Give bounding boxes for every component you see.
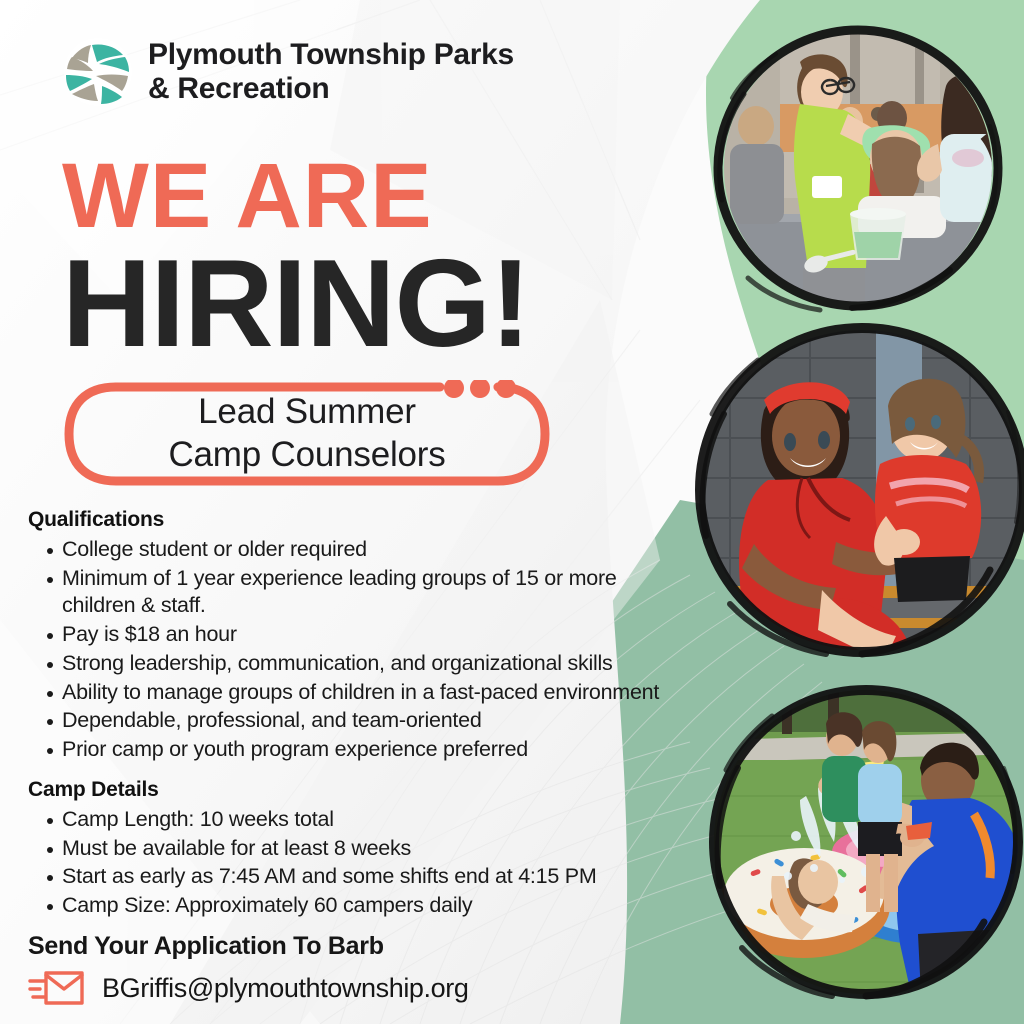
- qualifications-list: College student or older required Minimu…: [28, 536, 668, 764]
- role-pill: Lead Summer Camp Counselors: [62, 380, 552, 488]
- list-item: College student or older required: [28, 536, 668, 564]
- list-item: Start as early as 7:45 AM and some shift…: [28, 863, 668, 891]
- envelope-send-icon: [28, 967, 88, 1009]
- list-item: Camp Length: 10 weeks total: [28, 806, 668, 834]
- organization-name: Plymouth Township Parks & Recreation: [148, 38, 514, 105]
- list-item: Must be available for at least 8 weeks: [28, 835, 668, 863]
- call-to-action: Send Your Application To Barb: [28, 932, 648, 961]
- photo-water-play: [706, 676, 1024, 1016]
- list-item: Pay is $18 an hour: [28, 621, 668, 649]
- qualifications-section: Qualifications College student or older …: [28, 508, 668, 765]
- role-title: Lead Summer Camp Counselors: [62, 380, 552, 488]
- hiring-flyer: Plymouth Township Parks & Recreation WE …: [0, 0, 1024, 1024]
- contact-email[interactable]: BGriffis@plymouthtownship.org: [102, 973, 468, 1004]
- camp-details-title: Camp Details: [28, 778, 668, 802]
- list-item: Minimum of 1 year experience leading gro…: [28, 565, 668, 620]
- qualifications-title: Qualifications: [28, 508, 668, 532]
- camp-details-section: Camp Details Camp Length: 10 weeks total…: [28, 778, 668, 921]
- list-item: Prior camp or youth program experience p…: [28, 736, 668, 764]
- headline-hiring: HIRING!: [62, 242, 530, 366]
- brand-logo: Plymouth Township Parks & Recreation: [62, 36, 514, 108]
- camp-details-list: Camp Length: 10 weeks total Must be avai…: [28, 806, 668, 920]
- list-item: Dependable, professional, and team-orien…: [28, 707, 668, 735]
- list-item: Strong leadership, communication, and or…: [28, 650, 668, 678]
- photo-slime-activity: [700, 18, 1020, 318]
- role-title-line1: Lead Summer: [198, 391, 416, 434]
- role-title-line2: Camp Counselors: [168, 434, 445, 477]
- photo-counselor-and-camper: [690, 318, 1024, 662]
- globe-leaf-logo-icon: [62, 36, 134, 108]
- list-item: Ability to manage groups of children in …: [28, 679, 668, 707]
- list-item: Camp Size: Approximately 60 campers dail…: [28, 892, 668, 920]
- headline-we-are: WE ARE: [62, 150, 433, 242]
- contact-row: BGriffis@plymouthtownship.org: [28, 967, 648, 1009]
- application-footer: Send Your Application To Barb BGriffis@p…: [28, 932, 648, 1009]
